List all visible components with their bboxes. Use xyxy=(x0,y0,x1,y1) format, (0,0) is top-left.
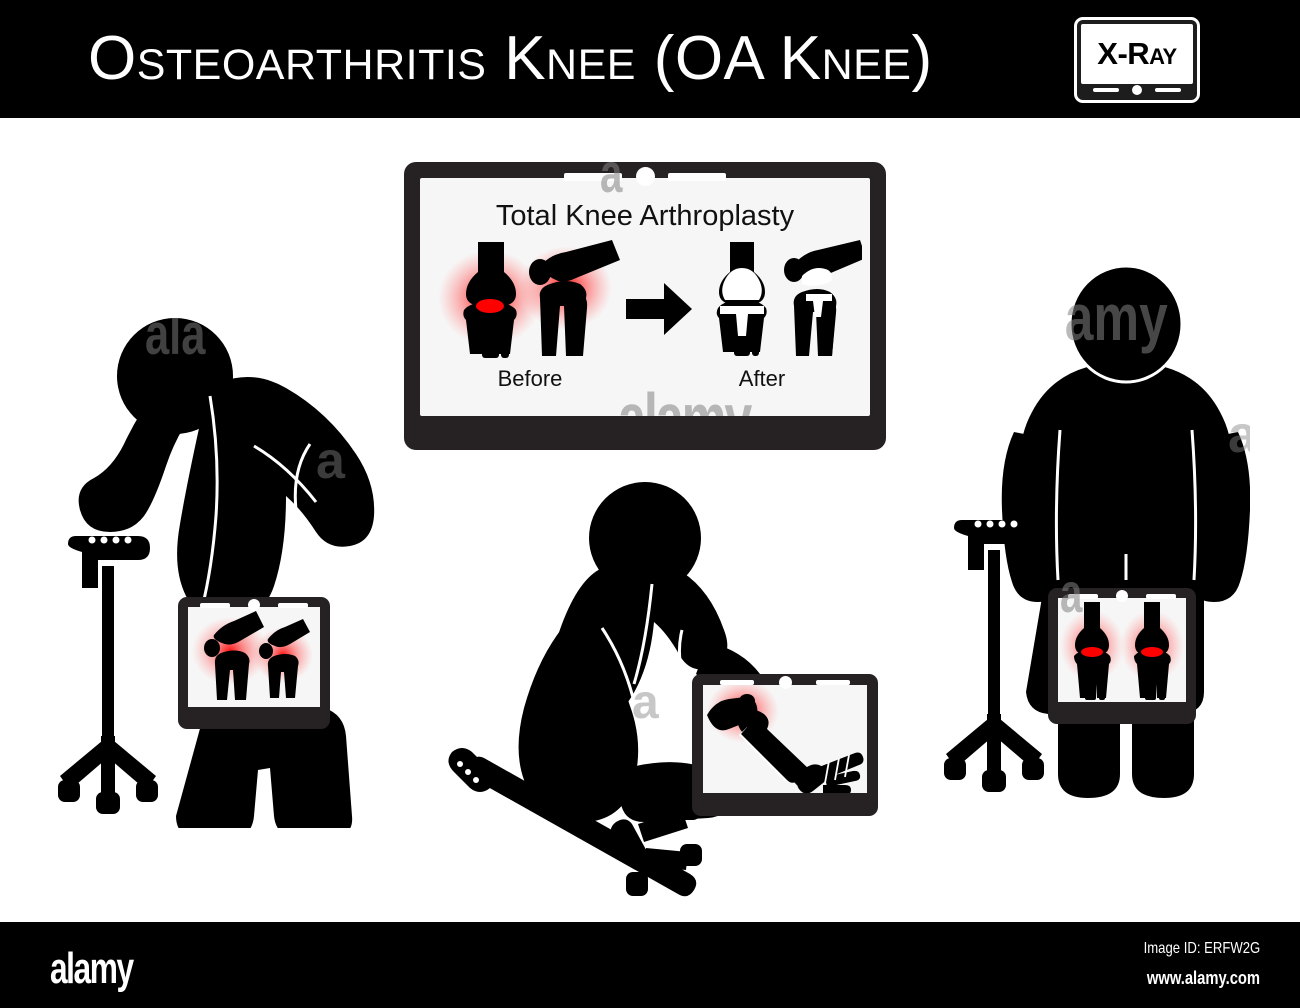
before-knees-illustration xyxy=(438,236,628,376)
watermark-tile: ala xyxy=(145,318,206,366)
tablet-right-screen xyxy=(1058,598,1186,702)
xray-badge-label: X-Ray xyxy=(1081,24,1193,84)
header-bar: Osteoarthritis Knee (OA Knee) X-Ray xyxy=(0,0,1300,118)
home-button-icon xyxy=(1132,85,1142,95)
website-url-label: www.alamy.com xyxy=(1147,968,1260,989)
infographic-canvas: Osteoarthritis Knee (OA Knee) X-Ray Tota… xyxy=(0,0,1300,1008)
quad-cane-icon xyxy=(58,536,158,814)
monitor-total-knee-arthroplasty: Total Knee Arthroplasty xyxy=(404,162,886,450)
monitor-title: Total Knee Arthroplasty xyxy=(420,200,870,233)
watermark-tile: a xyxy=(316,432,346,490)
arrow-right-icon xyxy=(626,283,692,335)
after-knees-illustration xyxy=(702,236,862,376)
before-label: Before xyxy=(450,366,610,392)
lateral-knee-xray-illustration xyxy=(188,607,320,707)
speaker-bar-right-icon xyxy=(668,173,726,181)
ap-knee-xray-illustration xyxy=(1058,598,1186,702)
image-id-label: Image ID: ERFW2G xyxy=(1143,940,1260,958)
page-title: Osteoarthritis Knee (OA Knee) xyxy=(88,16,1048,102)
xray-badge-bezel xyxy=(1077,82,1197,98)
figure-left-hunched-patient: ala a xyxy=(58,318,408,828)
home-button-icon xyxy=(636,167,655,186)
speaker-bar-left-icon xyxy=(564,173,622,181)
speaker-bar-right-icon xyxy=(816,680,850,685)
watermark-tile: amy xyxy=(1065,280,1168,355)
tablet-center xyxy=(692,674,878,816)
leg-xray-illustration xyxy=(703,685,867,793)
speaker-bar-left-icon xyxy=(200,603,230,608)
watermark-tile: a xyxy=(632,676,659,729)
speaker-bar-right-icon xyxy=(1146,594,1176,599)
footer-bar: alamy Image ID: ERFW2G www.alamy.com xyxy=(0,922,1300,1008)
home-button-icon xyxy=(248,599,260,611)
tablet-left-screen xyxy=(188,607,320,707)
home-button-icon xyxy=(1116,590,1128,602)
alamy-logo: alamy xyxy=(50,944,133,994)
speaker-bar-right-icon xyxy=(1155,88,1181,92)
figure-right-standing-patient: amy a xyxy=(940,262,1250,822)
monitor-screen: Total Knee Arthroplasty xyxy=(420,178,870,416)
speaker-bar-left-icon xyxy=(1093,88,1119,92)
xray-badge: X-Ray xyxy=(1074,17,1200,103)
tablet-right xyxy=(1048,588,1196,724)
home-button-icon xyxy=(779,676,792,689)
speaker-bar-left-icon xyxy=(1068,594,1098,599)
after-label: After xyxy=(682,366,842,392)
tablet-center-screen xyxy=(703,685,867,793)
watermark-tile: a xyxy=(1228,406,1250,464)
speaker-bar-right-icon xyxy=(278,603,308,608)
tablet-left xyxy=(178,597,330,729)
speaker-bar-left-icon xyxy=(720,680,754,685)
xray-badge-screen: X-Ray xyxy=(1081,24,1193,84)
